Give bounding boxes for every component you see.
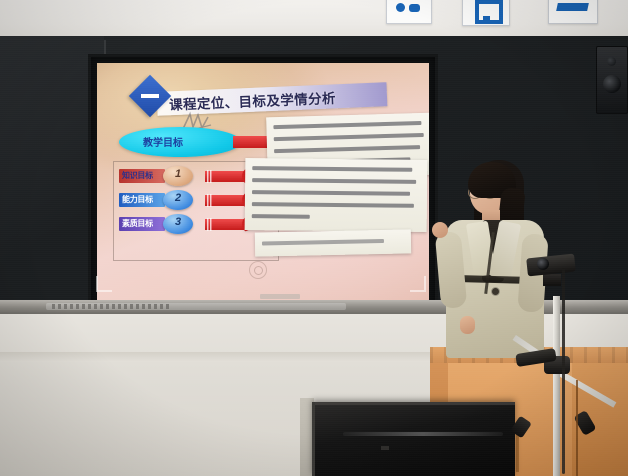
wall-speaker <box>596 46 628 114</box>
objective-number-2: 2 <box>163 192 193 204</box>
camera-mount <box>543 274 561 286</box>
screen-brand-plate <box>260 294 300 299</box>
objective-label-3: 素质目标 <box>122 218 153 229</box>
wall-poster-2 <box>462 0 510 26</box>
wall-poster-1 <box>386 0 432 24</box>
objective-badge-3: 3 <box>163 214 193 234</box>
objective-badge-1: 1 <box>163 166 193 186</box>
screen-corner-bracket-left <box>96 276 112 292</box>
objective-bar-1: 知识目标 <box>119 169 165 183</box>
projection-screen-frame: 课程定位、目标及学情分析 教学目标 知识目标 1 <box>88 54 438 310</box>
tripod-center-pole <box>553 296 560 476</box>
screen-corner-bracket-right <box>410 276 426 292</box>
monitor-label <box>381 446 389 450</box>
camera-cable <box>562 268 565 474</box>
monitor-top-edge <box>315 402 515 405</box>
objective-number-3: 3 <box>163 216 193 228</box>
presenter-hand-left <box>432 222 448 238</box>
objective-label-2: 能力目标 <box>122 194 153 205</box>
camera-lens-icon <box>537 258 549 270</box>
chalk-tray-controls[interactable] <box>52 304 172 309</box>
upper-wall <box>0 0 628 40</box>
slide-section-label: 教学目标 <box>143 134 239 149</box>
classroom-photo: 课程定位、目标及学情分析 教学目标 知识目标 1 <box>0 0 628 476</box>
objective-bar-2: 能力目标 <box>119 193 165 207</box>
power-cable <box>576 380 578 476</box>
projection-screen[interactable]: 课程定位、目标及学情分析 教学目标 知识目标 1 <box>97 63 429 301</box>
speaker-tweeter-icon <box>607 57 616 66</box>
presenter-coat-button <box>492 288 499 295</box>
objective-badge-2: 2 <box>163 190 193 210</box>
wall-poster-3 <box>548 0 598 24</box>
slide-note-sheet-2: 【素质目标】通过理论教学，通过本章节的学习，让学生深刻认识到我国人口形势及其对经… <box>245 158 428 232</box>
objective-number-1: 1 <box>163 168 193 180</box>
monitor-vent <box>343 432 503 436</box>
slide-note-sheet-3: 思政融入点：人口国情教育 <box>255 229 411 256</box>
objective-label-1: 知识目标 <box>122 170 153 181</box>
objective-bar-3: 素质目标 <box>119 217 165 231</box>
presenter-hand-right <box>460 316 475 334</box>
projector-watermark-icon <box>249 261 267 279</box>
podium-monitor-rear <box>312 402 515 476</box>
